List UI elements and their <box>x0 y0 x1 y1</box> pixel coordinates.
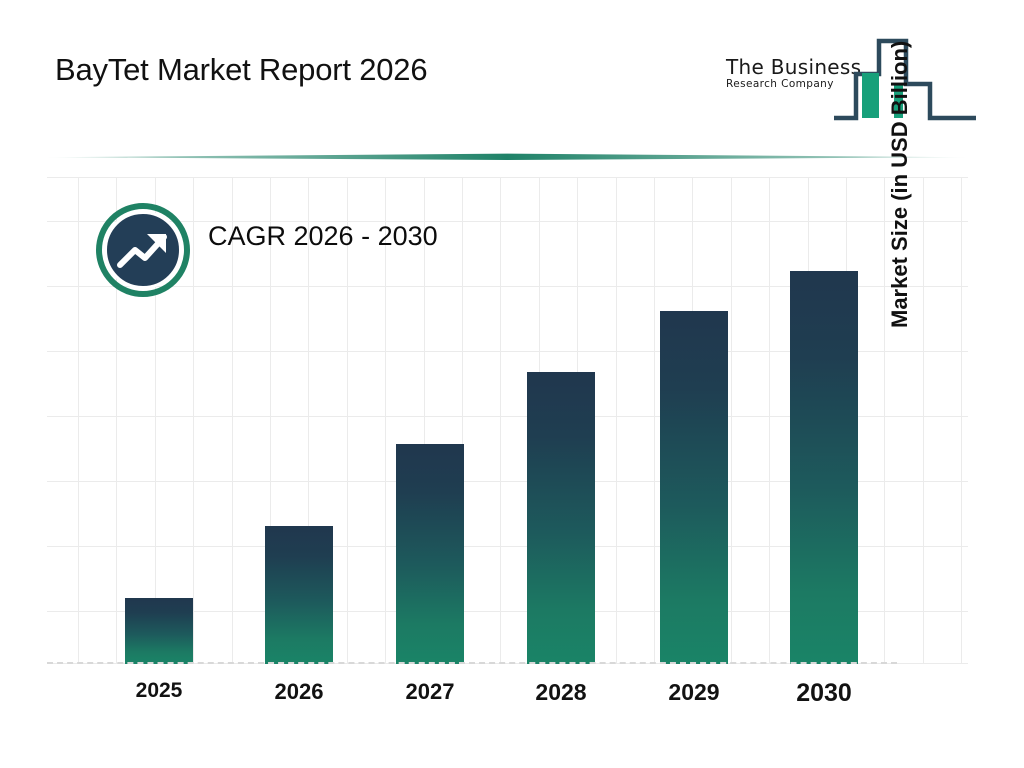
gridline-vertical <box>923 177 924 664</box>
bar-2029[interactable] <box>660 311 728 664</box>
x-axis-label-2028: 2028 <box>522 679 600 706</box>
x-axis-label-2025: 2025 <box>120 679 198 703</box>
x-axis-label-2026: 2026 <box>260 679 338 705</box>
bar-2026[interactable] <box>265 526 333 664</box>
bar-2028[interactable] <box>527 372 595 664</box>
gridline-vertical <box>769 177 770 664</box>
gridline-vertical <box>500 177 501 664</box>
bar-2027[interactable] <box>396 444 464 664</box>
gridline-vertical <box>616 177 617 664</box>
y-axis-label: Market Size (in USD Billion) <box>887 0 913 328</box>
x-axis-label-2029: 2029 <box>655 679 733 706</box>
bar-2030[interactable] <box>790 271 858 664</box>
gridline-vertical <box>78 177 79 664</box>
gridline-horizontal <box>47 177 968 178</box>
trending-up-arrow-icon <box>96 203 190 297</box>
gridline-vertical <box>731 177 732 664</box>
gridline-vertical <box>193 177 194 664</box>
bar-2025[interactable] <box>125 598 193 664</box>
cagr-label: CAGR 2026 - 2030 <box>208 221 438 252</box>
axis-baseline <box>47 662 897 664</box>
gridline-vertical <box>884 177 885 664</box>
market-size-bar-chart: CAGR 2026 - 2030 Market Size (in USD Bil… <box>0 0 1024 768</box>
gridline-vertical <box>654 177 655 664</box>
gridline-vertical <box>961 177 962 664</box>
x-axis-label-2027: 2027 <box>391 679 469 705</box>
x-axis-label-2030: 2030 <box>784 679 864 708</box>
